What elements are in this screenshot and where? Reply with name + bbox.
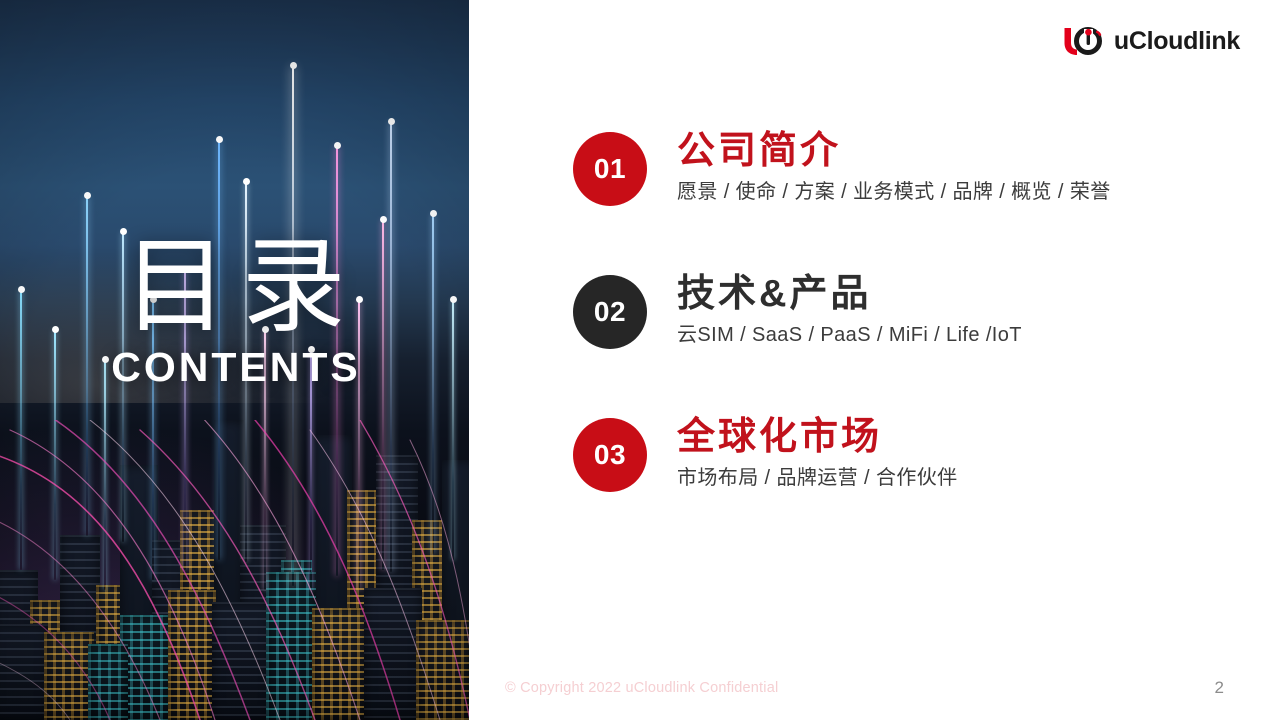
hero-title: 目录 CONTENTS [0,232,469,391]
content-area: uCloudlink 01 公司简介 愿景 / 使命 / 方案 / 业务模式 /… [469,0,1280,720]
contents-item-02[interactable]: 02 技术&产品 云SIM / SaaS / PaaS / MiFi / Lif… [573,271,1263,349]
contents-item-03[interactable]: 03 全球化市场 市场布局 / 品牌运营 / 合作伙伴 [573,414,1263,492]
section-number-badge: 02 [573,275,647,349]
page-number: 2 [1215,678,1224,698]
copyright-text: © Copyright 2022 uCloudlink Confidential [505,680,778,696]
brand-logo: uCloudlink [1060,24,1240,58]
section-number-badge: 03 [573,418,647,492]
contents-item-01[interactable]: 01 公司简介 愿景 / 使命 / 方案 / 业务模式 / 品牌 / 概览 / … [573,128,1263,206]
logo-wordmark: uCloudlink [1114,29,1240,54]
section-title: 技术&产品 [677,273,1022,316]
section-subtitle: 市场布局 / 品牌运营 / 合作伙伴 [677,465,958,491]
section-subtitle: 云SIM / SaaS / PaaS / MiFi / Life /IoT [677,322,1022,348]
hero-image-panel: 目录 CONTENTS [0,0,469,720]
section-subtitle: 愿景 / 使命 / 方案 / 业务模式 / 品牌 / 概览 / 荣誉 [677,179,1111,205]
hero-title-cn: 目录 [0,232,469,342]
slide-contents: 目录 CONTENTS uCloudlink 01 [0,0,1280,720]
section-text-block: 技术&产品 云SIM / SaaS / PaaS / MiFi / Life /… [677,271,1022,348]
contents-list: 01 公司简介 愿景 / 使命 / 方案 / 业务模式 / 品牌 / 概览 / … [573,128,1263,492]
section-text-block: 公司简介 愿景 / 使命 / 方案 / 业务模式 / 品牌 / 概览 / 荣誉 [677,128,1111,205]
ucloudlink-logo-icon [1060,25,1110,57]
hero-title-en: CONTENTS [0,344,469,391]
section-title: 全球化市场 [677,416,958,459]
section-text-block: 全球化市场 市场布局 / 品牌运营 / 合作伙伴 [677,414,958,491]
section-number-badge: 01 [573,132,647,206]
section-title: 公司简介 [677,130,1111,173]
